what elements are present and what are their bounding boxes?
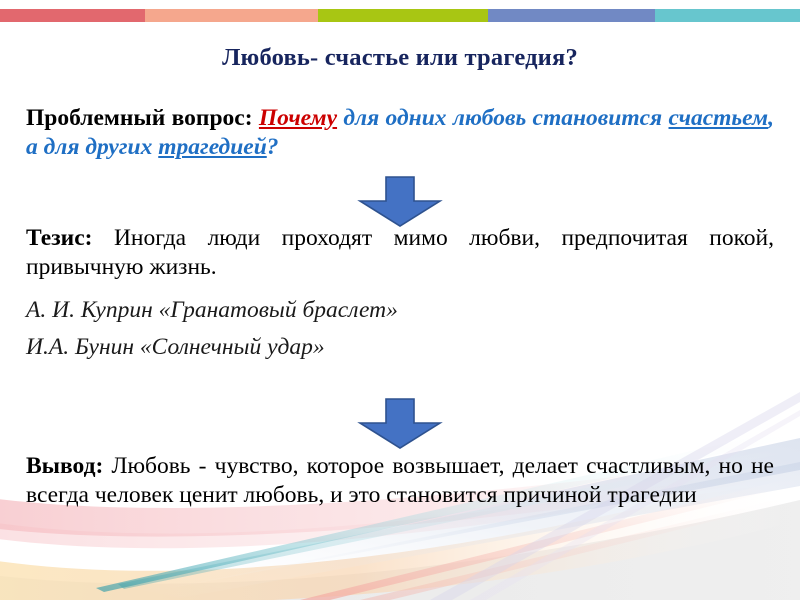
citation-kuprin: А. И. Куприн «Гранатовый браслет» — [26, 296, 774, 324]
problem-underline-tragediey: трагедией — [158, 134, 267, 160]
down-arrow-icon-bottom — [357, 398, 443, 450]
conclusion-block: Вывод: Любовь - чувство, которое возвыша… — [26, 452, 774, 509]
slide-canvas: Любовь- счастье или трагедия? Проблемный… — [0, 0, 800, 600]
thesis-block: Тезис: Иногда люди проходят мимо любви, … — [26, 224, 774, 281]
conclusion-text: Любовь - чувство, которое возвышает, дел… — [26, 453, 774, 508]
thesis-label: Тезис: — [26, 225, 92, 251]
color-bar-segment-red — [0, 9, 145, 22]
color-bar-segment-salmon — [145, 9, 318, 22]
citation-bunin: И.А. Бунин «Солнечный удар» — [26, 333, 774, 361]
color-bar-segment-green — [318, 9, 488, 22]
problem-question-label: Проблемный вопрос: — [26, 105, 253, 131]
citation-bunin-text: И.А. Бунин «Солнечный удар» — [26, 333, 774, 361]
conclusion-label: Вывод: — [26, 453, 103, 479]
problem-text-part-1: для одних любовь становится — [337, 105, 668, 131]
thesis-text: Иногда люди проходят мимо любви, предпоч… — [26, 225, 774, 280]
color-bar-segment-blue — [488, 9, 655, 22]
problem-highlight-pochemu: Почему — [259, 105, 337, 131]
citation-kuprin-text: А. И. Куприн «Гранатовый браслет» — [26, 296, 774, 324]
problem-underline-schastyem: счастьем — [669, 105, 769, 131]
page-title: Любовь- счастье или трагедия? — [0, 44, 800, 72]
top-color-bar — [0, 9, 800, 22]
down-arrow-icon-top — [357, 176, 443, 228]
color-bar-segment-teal — [655, 9, 800, 22]
problem-question-block: Проблемный вопрос: Почему для одних любо… — [26, 104, 774, 161]
problem-text-part-3: ? — [267, 134, 279, 160]
